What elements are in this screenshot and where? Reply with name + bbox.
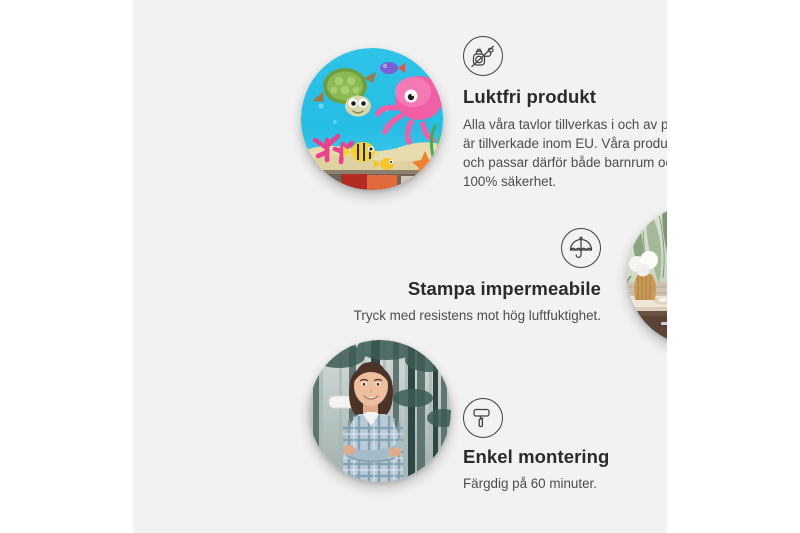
feature-2-description: Tryck med resistens mot hög luftfuktighe…	[311, 306, 601, 325]
woman-painter-forest-illustration	[309, 340, 451, 482]
feature-1-text: Luktfri produkt Alla våra tavlor tillver…	[463, 86, 667, 191]
photo-bathroom-tropical-wallpaper[interactable]	[627, 204, 667, 346]
feature-1-description: Alla våra tavlor tillverkas i och av pro…	[463, 115, 667, 191]
umbrella-icon	[561, 228, 601, 268]
screenshot-canvas: Luktfri produkt Alla våra tavlor tillver…	[0, 0, 800, 533]
feature-2-text: Stampa impermeabile Tryck med resistens …	[311, 278, 601, 325]
paint-roller-icon	[463, 398, 503, 438]
no-fragrance-icon	[463, 36, 503, 76]
feature-1-title: Luktfri produkt	[463, 86, 667, 108]
bathroom-interior-illustration	[627, 204, 667, 346]
product-features-panel: Luktfri produkt Alla våra tavlor tillver…	[133, 0, 667, 533]
feature-3-description: Färgdig på 60 minuter.	[463, 474, 667, 493]
feature-3-title: Enkel montering	[463, 446, 667, 468]
underwater-cartoon-illustration	[301, 48, 443, 190]
photo-underwater-cartoon-mural[interactable]	[301, 48, 443, 190]
feature-2-title: Stampa impermeabile	[311, 278, 601, 300]
photo-woman-with-paint-roller-forest-mural[interactable]	[309, 340, 451, 482]
feature-3-text: Enkel montering Färgdig på 60 minuter.	[463, 446, 667, 493]
